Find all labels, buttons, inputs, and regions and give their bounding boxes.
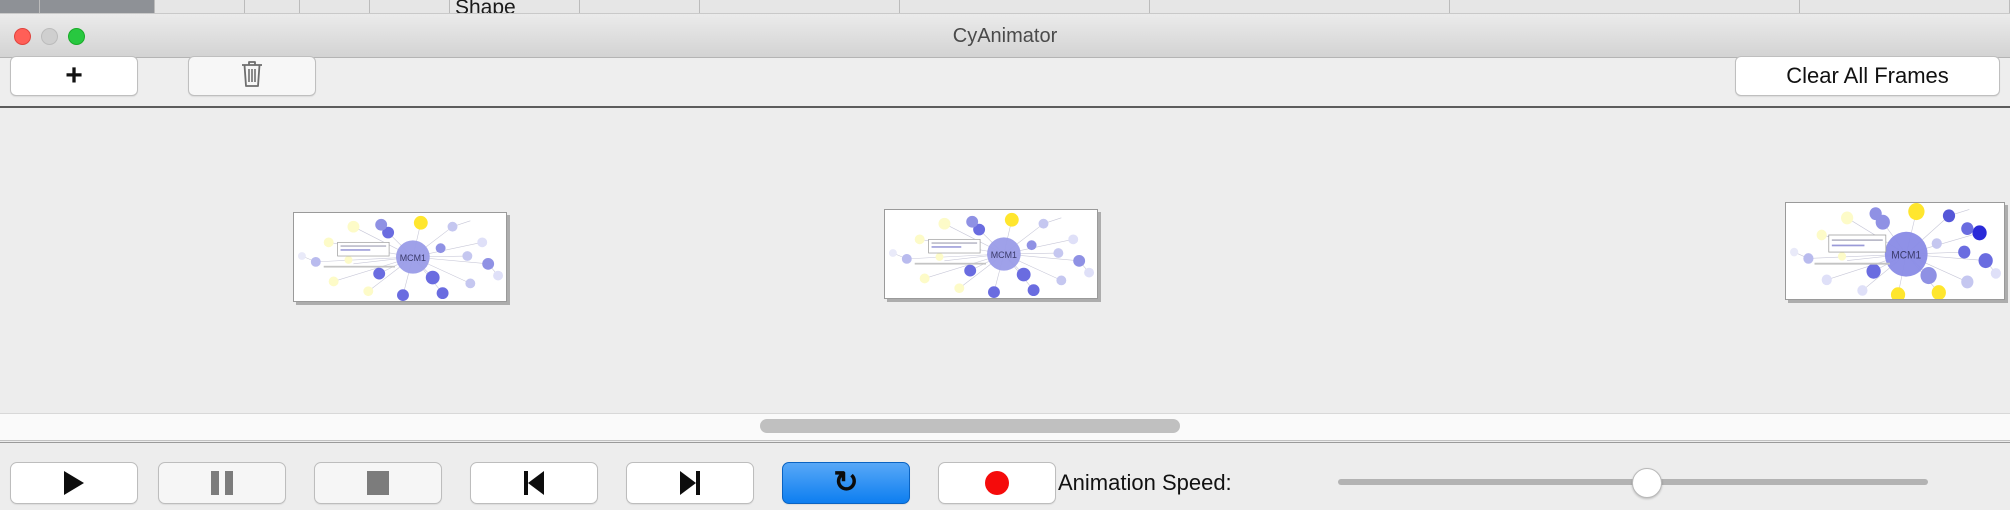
window-title: CyAnimator <box>0 14 2010 58</box>
background-window-label: Shape <box>455 0 516 14</box>
loop-button[interactable]: ↻ <box>782 462 910 504</box>
pause-icon <box>211 471 233 495</box>
skip-to-end-icon <box>680 471 700 495</box>
background-window-strip: Shape <box>0 0 2010 14</box>
record-icon <box>985 471 1009 495</box>
record-button[interactable] <box>938 462 1056 504</box>
network-preview: MCM1 <box>885 210 1097 298</box>
pause-button[interactable] <box>158 462 286 504</box>
frame-thumbnail[interactable]: MCM1 <box>293 212 507 302</box>
timeline-panel[interactable]: MCM1 <box>0 108 2010 413</box>
skip-to-start-button[interactable] <box>470 462 598 504</box>
plus-icon: + <box>65 61 83 91</box>
stop-button[interactable] <box>314 462 442 504</box>
animation-speed-slider-thumb[interactable] <box>1632 468 1662 498</box>
stop-icon <box>367 471 389 495</box>
delete-frame-button[interactable] <box>188 56 316 96</box>
skip-to-start-icon <box>524 471 544 495</box>
cyanimator-window: Shape CyAnimator + Clear All Frames <box>0 0 2010 510</box>
title-bar: CyAnimator <box>0 14 2010 58</box>
animation-speed-label: Animation Speed: <box>1058 462 1232 504</box>
skip-to-end-button[interactable] <box>626 462 754 504</box>
timeline-scrollbar-thumb[interactable] <box>760 419 1180 433</box>
network-preview: MCM1 <box>294 213 506 301</box>
svg-text:MCM1: MCM1 <box>991 250 1017 260</box>
play-button[interactable] <box>10 462 138 504</box>
add-frame-button[interactable]: + <box>10 56 138 96</box>
network-preview: MCM1 <box>1786 203 2004 299</box>
frame-thumbnail[interactable]: MCM1 <box>884 209 1098 299</box>
trash-icon <box>239 59 265 94</box>
clear-all-frames-label: Clear All Frames <box>1786 63 1949 89</box>
frame-thumbnail[interactable]: MCM1 <box>1785 202 2005 300</box>
clear-all-frames-button[interactable]: Clear All Frames <box>1735 56 2000 96</box>
loop-icon: ↻ <box>833 468 858 498</box>
svg-text:MCM1: MCM1 <box>400 253 426 263</box>
play-icon <box>64 471 84 495</box>
svg-text:MCM1: MCM1 <box>1891 250 1921 261</box>
